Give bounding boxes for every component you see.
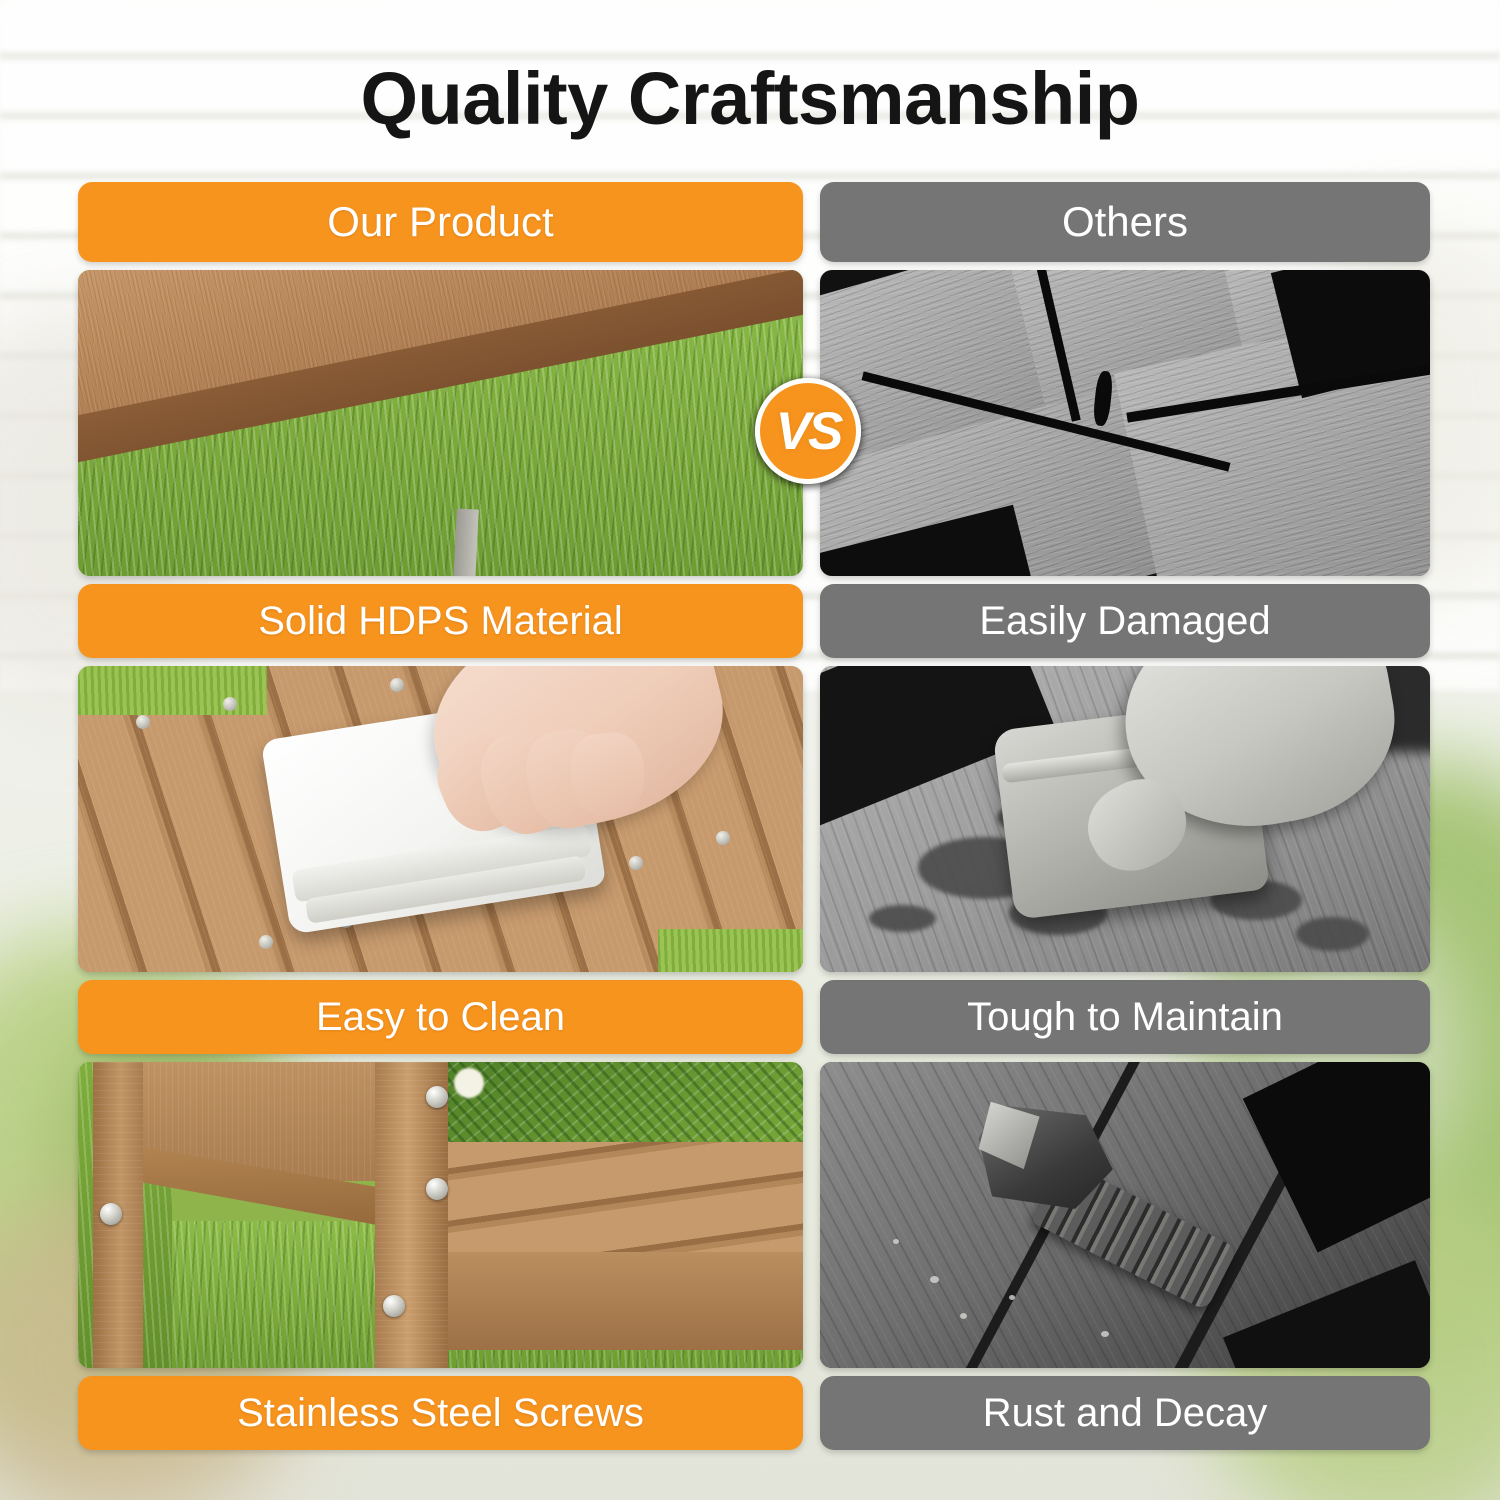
stain-spot — [1296, 917, 1369, 951]
ours-column-header: Our Product — [78, 182, 803, 262]
debris-fleck — [1009, 1295, 1015, 1300]
ours-cell-screws: Stainless Steel Screws — [78, 1062, 803, 1450]
debris-fleck — [1101, 1331, 1109, 1337]
cracked-wood-planks-photo — [820, 270, 1430, 576]
ours-column-header-cell: Our Product — [78, 182, 803, 262]
ours-cell-clean: Easy to Clean — [78, 666, 803, 1054]
ours-caption-screws: Stainless Steel Screws — [78, 1376, 803, 1450]
stainless-screw-head — [100, 1203, 122, 1225]
comparison-row: Solid HDPS Material Easily Damaged VS — [78, 270, 1430, 658]
grass-background — [658, 929, 803, 972]
page-title: Quality Craftsmanship — [0, 56, 1500, 141]
table-leg — [453, 508, 479, 576]
others-cell-rust: Rust and Decay — [820, 1062, 1430, 1450]
column-headers-row: Our Product Others — [78, 182, 1430, 262]
vs-badge: VS — [755, 378, 861, 484]
others-caption-rust: Rust and Decay — [820, 1376, 1430, 1450]
others-caption-damaged: Easily Damaged — [820, 584, 1430, 658]
screw-head — [629, 856, 643, 870]
comparison-row: Stainless Steel Screws Rust and Decay VS — [78, 1062, 1430, 1450]
ours-caption-material: Solid HDPS Material — [78, 584, 803, 658]
tabletop-edge — [397, 1252, 803, 1350]
stain-spot — [869, 905, 936, 933]
comparison-row: Easy to Clean Tough to Maintain V — [78, 666, 1430, 1054]
hand-scrubbing-stained-wood-photo — [820, 666, 1430, 972]
stainless-screws-table-leg-photo — [78, 1062, 803, 1368]
comparison-grid: Our Product Others Solid HDPS Material — [78, 182, 1430, 1450]
debris-fleck — [930, 1276, 939, 1283]
flower-blur — [454, 1068, 484, 1098]
others-caption-maintain: Tough to Maintain — [820, 980, 1430, 1054]
ours-cell-material: Solid HDPS Material — [78, 270, 803, 658]
others-cell-damaged: Easily Damaged — [820, 270, 1430, 658]
others-column-header: Others — [820, 182, 1430, 262]
others-cell-maintain: Tough to Maintain — [820, 666, 1430, 1054]
ours-caption-clean: Easy to Clean — [78, 980, 803, 1054]
rusty-bolt-photo — [820, 1062, 1430, 1368]
screw-head — [390, 678, 404, 692]
screw-head — [136, 715, 150, 729]
others-column-header-cell: Others — [820, 182, 1430, 262]
screw-head — [223, 697, 237, 711]
hand-wiping-towel-photo — [78, 666, 803, 972]
hdps-bench-rail-photo — [78, 270, 803, 576]
grass-background — [78, 666, 267, 715]
stainless-screw-head — [383, 1295, 405, 1317]
